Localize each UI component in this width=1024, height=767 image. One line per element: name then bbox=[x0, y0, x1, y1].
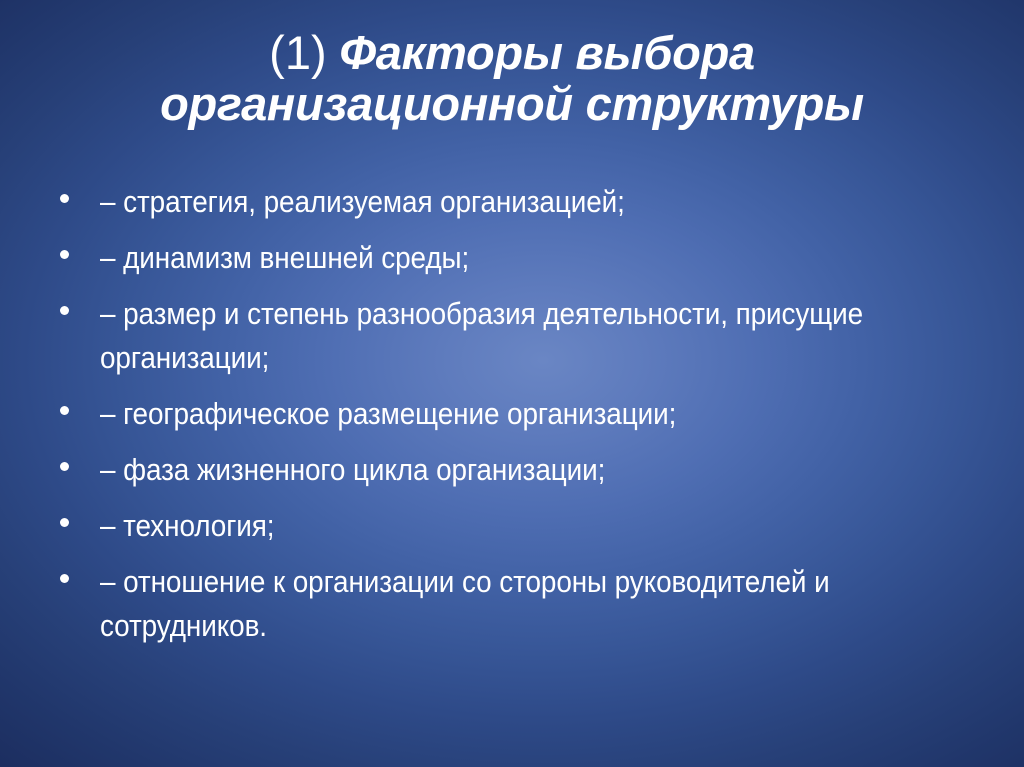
bullet-list: – стратегия, реализуемая организацией; –… bbox=[48, 180, 978, 660]
list-item: – стратегия, реализуемая организацией; bbox=[48, 180, 978, 224]
bullet-dot-icon bbox=[60, 194, 69, 203]
bullet-dot-icon bbox=[60, 462, 69, 471]
list-item: – географическое размещение организации; bbox=[48, 392, 978, 436]
title-line-1-text: Факторы выбора bbox=[339, 26, 754, 79]
bullet-dot-icon bbox=[60, 406, 69, 415]
list-item: – размер и степень разнообразия деятельн… bbox=[48, 292, 978, 380]
list-item-text: – стратегия, реализуемая организацией; bbox=[100, 180, 890, 224]
list-item: – фаза жизненного цикла организации; bbox=[48, 448, 978, 492]
bullet-dot-icon bbox=[60, 306, 69, 315]
bullet-dot-icon bbox=[60, 518, 69, 527]
list-item: – технология; bbox=[48, 504, 978, 548]
list-item-text: – отношение к организации со стороны рук… bbox=[100, 560, 890, 648]
title-line-1: (1) Факторы выбора bbox=[0, 28, 1024, 79]
title-line-2: организационной структуры bbox=[0, 79, 1024, 130]
list-item-text: – технология; bbox=[100, 504, 890, 548]
list-item-text: – размер и степень разнообразия деятельн… bbox=[100, 292, 890, 380]
list-item: – динамизм внешней среды; bbox=[48, 236, 978, 280]
list-item-text: – географическое размещение организации; bbox=[100, 392, 890, 436]
bullet-dot-icon bbox=[60, 250, 69, 259]
list-item-text: – фаза жизненного цикла организации; bbox=[100, 448, 890, 492]
list-item: – отношение к организации со стороны рук… bbox=[48, 560, 978, 648]
title-number: (1) bbox=[269, 26, 326, 79]
bullet-dot-icon bbox=[60, 574, 69, 583]
slide-title: (1) Факторы выбора организационной струк… bbox=[0, 28, 1024, 130]
list-item-text: – динамизм внешней среды; bbox=[100, 236, 890, 280]
presentation-slide: (1) Факторы выбора организационной струк… bbox=[0, 0, 1024, 767]
